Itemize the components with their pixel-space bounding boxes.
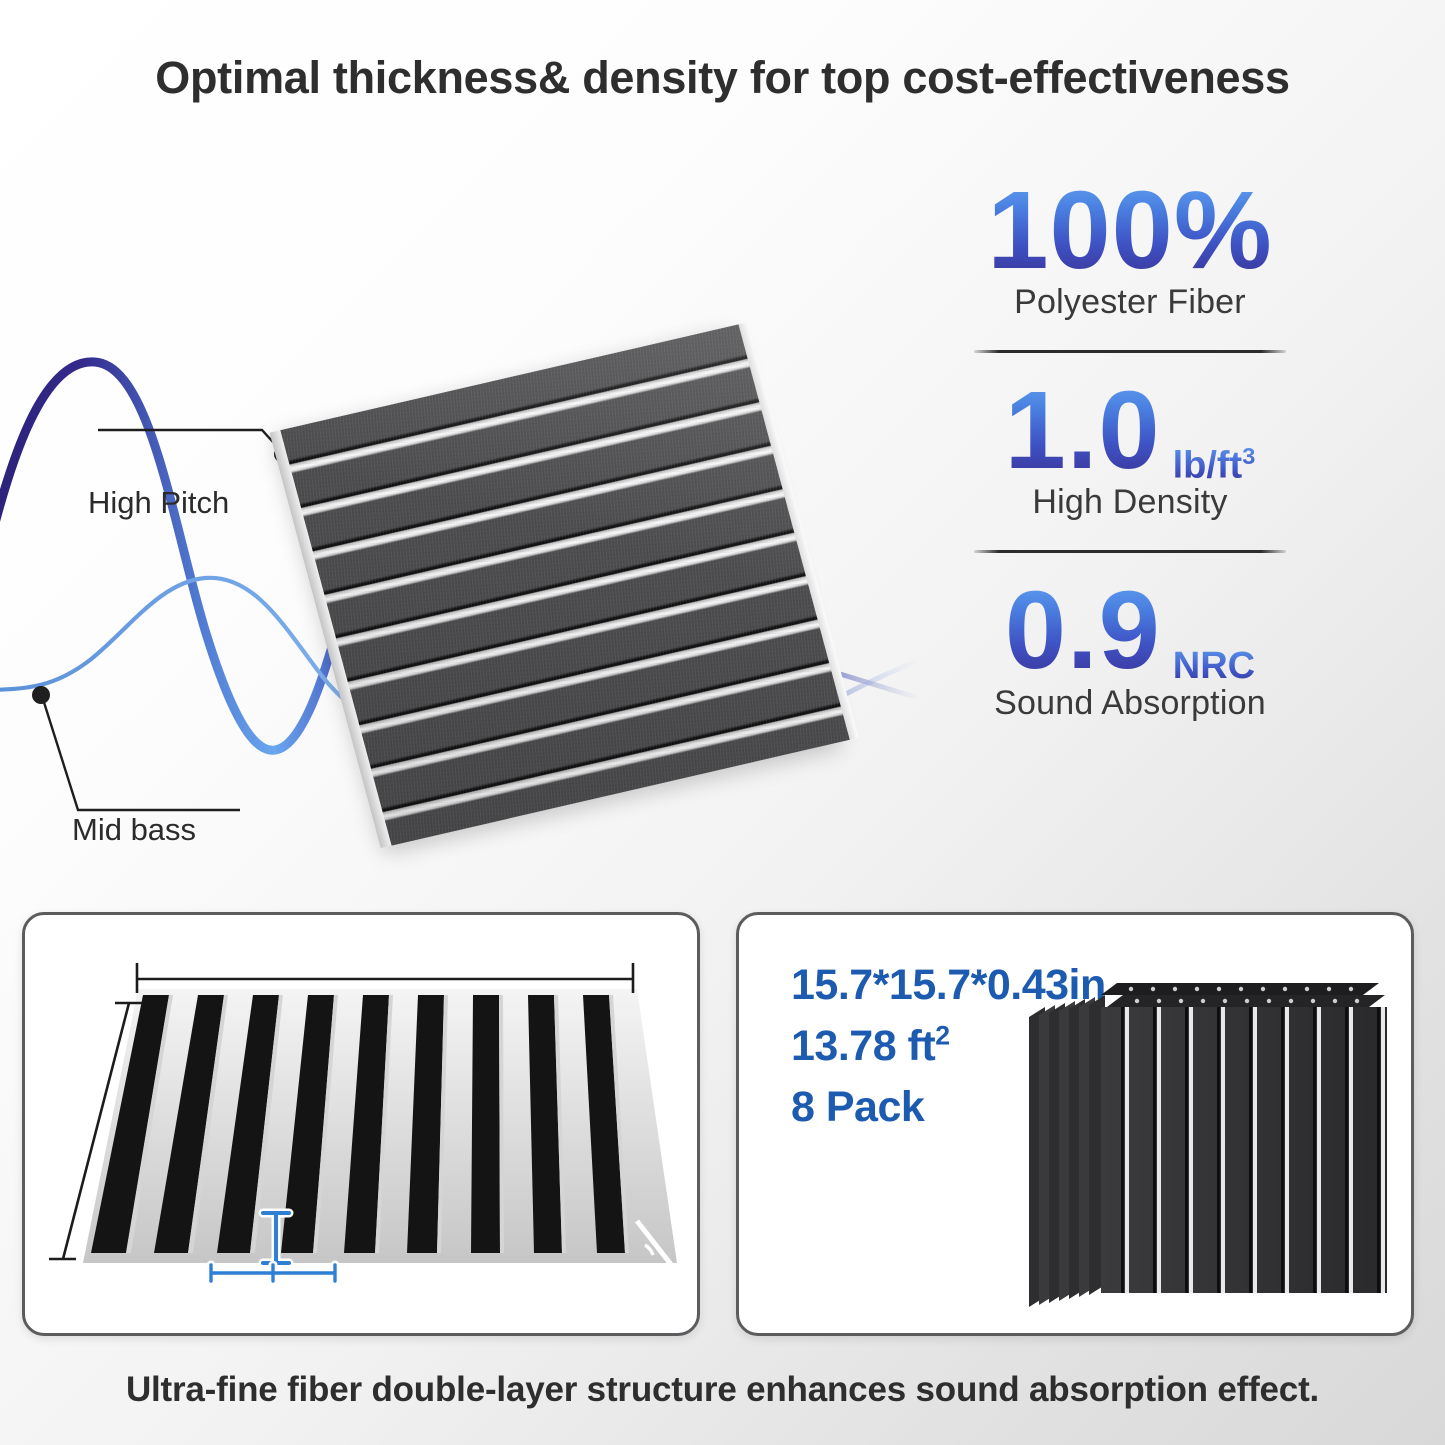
stat-label-density: High Density [930,483,1330,522]
mid-bass-label: Mid bass [72,812,196,848]
mid-bass-leader-line [42,696,240,810]
width-bracket-marker [211,1265,335,1281]
stat-unit-density: lb/ft3 [1173,443,1256,488]
acoustic-panel-body [280,324,850,845]
stack-edges [1029,995,1105,1307]
stack-top-faces [1101,983,1385,1007]
stat-value-density: 1.0 [1005,375,1161,487]
mid-bass-marker-dot [32,686,50,704]
page-caption: Ultra-fine fiber double-layer structure … [0,1370,1445,1410]
dimension-diagram [25,915,697,1333]
acoustic-panel-illustration [330,280,800,970]
dimensions-card: 15.7 inch 15.7 inch 0.43 inch 0.43 inch … [22,912,700,1336]
top-dimension-line [137,963,633,993]
stat-unit-density-text: lb/ft [1173,444,1243,486]
stat-polyester-fiber: 100% Polyester Fiber [930,175,1330,322]
slat [471,995,500,1253]
stats-divider-2 [974,550,1286,553]
high-pitch-leader-line [98,430,282,452]
stack-front-face [1101,1007,1387,1293]
stat-nrc: 0.9 NRC Sound Absorption [930,575,1330,722]
stats-divider-1 [974,350,1286,353]
stat-label-nrc: Sound Absorption [930,684,1330,723]
pack-spec-card: 15.7*15.7*0.43in 13.78 ft2 8 Pack [736,912,1414,1336]
stat-value-polyester: 100% [987,175,1272,287]
high-pitch-label: High Pitch [88,485,229,521]
infographic-page: Optimal thickness& density for top cost-… [0,0,1445,1445]
specs-stats-column: 100% Polyester Fiber 1.0 lb/ft3 High Den… [930,175,1330,723]
stacked-panels-graphic [739,915,1411,1333]
page-title: Optimal thickness& density for top cost-… [0,52,1445,104]
stat-unit-density-sup: 3 [1242,443,1255,469]
stat-unit-nrc: NRC [1173,645,1255,688]
stat-density: 1.0 lb/ft3 High Density [930,375,1330,522]
stat-value-nrc: 0.9 [1005,575,1161,687]
